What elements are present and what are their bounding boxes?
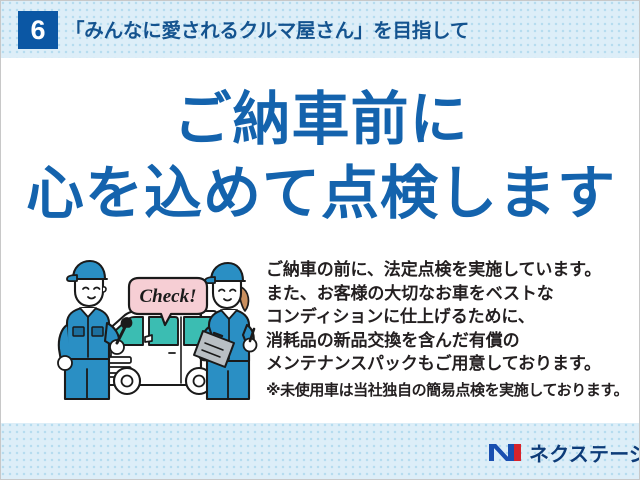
mechanics-illustration-svg: Check!	[53, 257, 265, 407]
step-number-badge: 6	[18, 11, 58, 49]
body-line-3: コンディションに仕上げるために、	[266, 305, 626, 329]
mechanics-illustration: Check!	[53, 257, 265, 407]
body-line-1: ご納車の前に、法定点検を実施しています。	[266, 258, 626, 282]
brand-logo: ネクステージ	[488, 438, 640, 466]
body-line-5: メンテナンスパックもご用意しております。	[266, 352, 626, 376]
headline-line-2: 心を込めて点検します	[1, 157, 640, 231]
header-title: 「みんなに愛されるクルマ屋さん」を目指して	[65, 17, 469, 45]
brand-name: ネクステージ	[529, 438, 640, 467]
advertisement-banner: 6 「みんなに愛されるクルマ屋さん」を目指して ご納車前に 心を込めて点検します	[0, 0, 640, 480]
body-note: ※未使用車は当社独自の簡易点検を実施しております。	[266, 379, 626, 402]
body-copy-block: ご納車の前に、法定点検を実施しています。 また、お客様の大切なお車をベストな コ…	[266, 258, 626, 402]
body-line-2: また、お客様の大切なお車をベストな	[266, 282, 626, 306]
check-bubble-text: Check!	[140, 286, 197, 307]
nextage-n-mark-icon	[488, 439, 522, 465]
headline-line-1: ご納車前に	[1, 83, 640, 157]
headline-block: ご納車前に 心を込めて点検します	[1, 83, 640, 231]
body-line-4: 消耗品の新品交換を含んだ有償の	[266, 329, 626, 353]
